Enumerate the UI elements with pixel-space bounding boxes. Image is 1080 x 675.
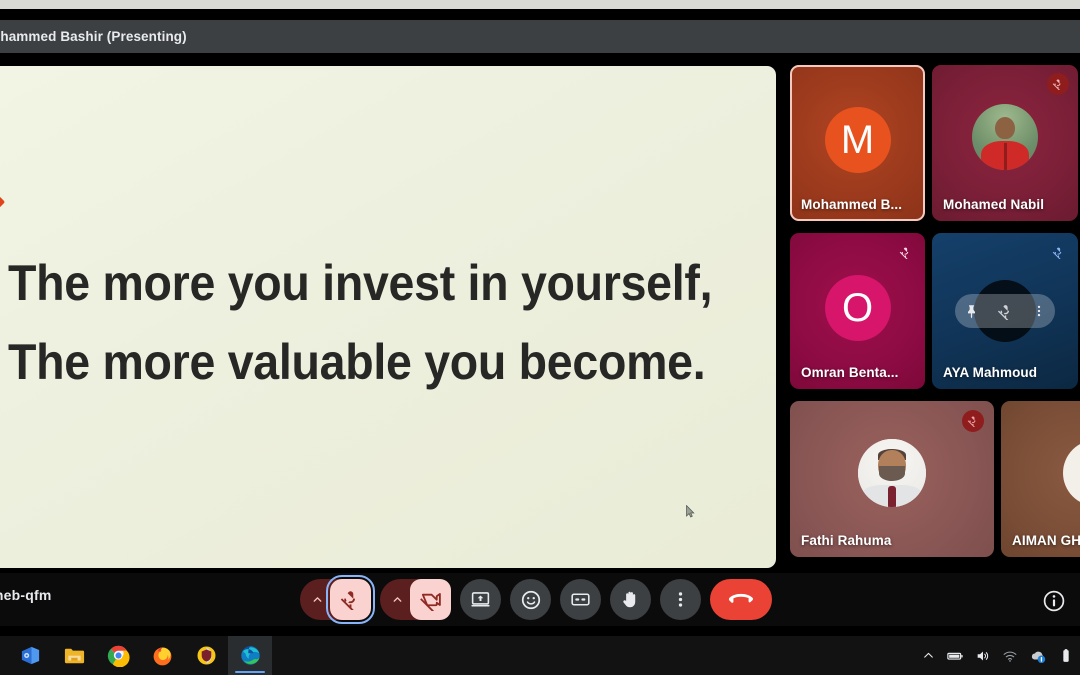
device-icon (1058, 648, 1074, 664)
participant-name: AYA Mahmoud (943, 365, 1037, 380)
taskbar-item-file-explorer[interactable] (52, 636, 96, 675)
mic-off-icon (1052, 246, 1065, 259)
mozilla-firefox-icon (151, 644, 174, 667)
onedrive-tray-icon[interactable] (1029, 647, 1047, 665)
device-tray-icon[interactable] (1058, 648, 1074, 664)
onedrive-icon (1029, 647, 1047, 665)
participant-tile-mohammed-bashir[interactable]: M Mohammed B... (790, 65, 925, 221)
show-hidden-icons-button[interactable] (922, 649, 935, 662)
camera-control-group (380, 579, 451, 620)
mic-options-button[interactable] (304, 579, 330, 620)
chevron-up-icon (311, 593, 324, 606)
mic-control-group (300, 579, 371, 620)
battery-tray-icon[interactable] (946, 647, 964, 665)
camera-toggle-button[interactable] (410, 579, 451, 620)
chevron-up-icon (391, 593, 404, 606)
volume-icon (975, 648, 991, 664)
google-chrome-icon (107, 644, 130, 667)
mic-off-icon (899, 246, 912, 259)
battery-icon (946, 647, 964, 665)
info-icon (1042, 589, 1066, 613)
participant-tile-aiman-gh[interactable]: AIMAN GH (1001, 401, 1080, 557)
microsoft-edge-icon (239, 644, 262, 667)
network-tray-icon[interactable] (1002, 648, 1018, 664)
taskbar-item-google-chrome[interactable] (96, 636, 140, 675)
mic-off-icon (340, 589, 361, 610)
reactions-button[interactable] (510, 579, 551, 620)
windows-taskbar (0, 636, 1080, 675)
avatar-body-line (1004, 143, 1007, 169)
call-controls (300, 576, 772, 623)
avatar (972, 104, 1038, 170)
meeting-stage: The more you invest in yourself, The mor… (0, 53, 1080, 626)
tile-hover-controls (955, 294, 1055, 328)
pin-icon[interactable] (964, 304, 979, 319)
avatar-beard (879, 466, 904, 481)
participant-name: Fathi Rahuma (801, 533, 891, 548)
taskbar-item-microsoft-edge[interactable] (228, 636, 272, 675)
volume-tray-icon[interactable] (975, 648, 991, 664)
captions-button[interactable] (560, 579, 601, 620)
mute-badge (962, 410, 984, 432)
mic-off-icon (1052, 78, 1064, 90)
security-app-icon (195, 644, 218, 667)
meeting-code: theb-qfm (0, 587, 51, 603)
present-screen-icon (470, 589, 491, 610)
meeting-details-button[interactable] (1042, 589, 1066, 613)
mic-toggle-button[interactable] (330, 579, 371, 620)
mute-badge (1047, 241, 1069, 263)
taskbar-item-security-app[interactable] (184, 636, 228, 675)
slide-quote-line-2: The more valuable you become. (8, 323, 696, 402)
presenting-title-bar: ohammed Bashir (Presenting) (0, 20, 1080, 53)
mic-off-icon[interactable] (997, 303, 1014, 320)
more-vertical-icon (671, 590, 690, 609)
participant-name: Omran Benta... (801, 365, 898, 380)
presentation-slide[interactable]: The more you invest in yourself, The mor… (0, 66, 776, 568)
taskbar-apps (8, 636, 272, 675)
avatar: M (825, 107, 891, 173)
browser-chrome-strip (0, 0, 1080, 9)
slide-quote-line-1: The more you invest in yourself, (8, 244, 696, 323)
more-options-icon[interactable] (1032, 304, 1046, 318)
present-screen-button[interactable] (460, 579, 501, 620)
participant-tile-aya-mahmoud[interactable]: AYA Mahmoud (932, 233, 1078, 389)
avatar-initial: O (842, 288, 873, 328)
camera-off-icon (419, 588, 442, 611)
participant-rail: M Mohammed B... (786, 53, 1080, 573)
raise-hand-icon (620, 589, 641, 610)
participant-tile-fathi-rahuma[interactable]: Fathi Rahuma (790, 401, 994, 557)
meeting-control-bar: theb-qfm (0, 573, 1080, 626)
avatar (1063, 440, 1080, 506)
mute-badge (894, 241, 916, 263)
system-tray (922, 636, 1074, 675)
participant-name: Mohammed B... (801, 197, 902, 212)
avatar-initial: M (841, 120, 874, 160)
emoji-icon (520, 589, 542, 611)
taskbar-item-office-app[interactable] (8, 636, 52, 675)
avatar: O (825, 275, 891, 341)
end-call-button[interactable] (710, 579, 772, 620)
taskbar-item-mozilla-firefox[interactable] (140, 636, 184, 675)
more-options-button[interactable] (660, 579, 701, 620)
mouse-cursor (686, 505, 695, 518)
network-icon (1002, 648, 1018, 664)
office-app-icon (19, 644, 42, 667)
slide-quote: The more you invest in yourself, The mor… (8, 244, 696, 402)
participant-tile-mohamed-nabil[interactable]: Mohamed Nabil (932, 65, 1078, 221)
mic-off-icon (967, 415, 979, 427)
mute-badge (1047, 73, 1069, 95)
presenting-title-text: ohammed Bashir (Presenting) (0, 29, 187, 44)
avatar (858, 439, 926, 507)
screen: ohammed Bashir (Presenting) The more you… (0, 0, 1080, 675)
avatar-head (995, 117, 1015, 139)
participant-name: Mohamed Nabil (943, 197, 1044, 212)
camera-options-button[interactable] (384, 579, 410, 620)
avatar-tie (888, 486, 895, 506)
captions-icon (570, 589, 591, 610)
end-call-icon (728, 587, 754, 613)
participant-name: AIMAN GH (1012, 533, 1080, 548)
chevron-up-icon (922, 649, 935, 662)
participant-tile-omran-bentaher[interactable]: O Omran Benta... (790, 233, 925, 389)
raise-hand-button[interactable] (610, 579, 651, 620)
file-explorer-icon (63, 644, 86, 667)
